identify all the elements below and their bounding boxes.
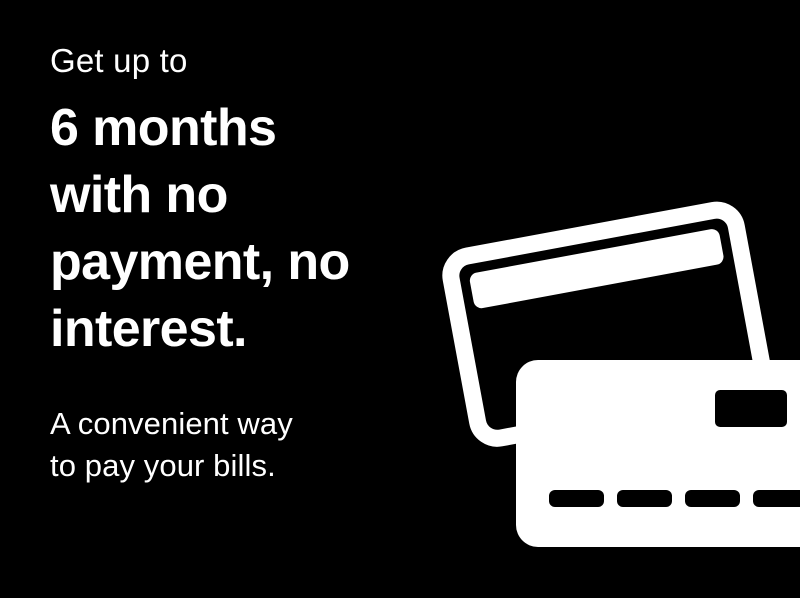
card-chip-icon — [715, 390, 787, 427]
eyebrow-text: Get up to — [50, 44, 450, 79]
subtext-line-1: A convenient way — [50, 403, 450, 445]
card-number-dash — [753, 490, 800, 507]
front-card-icon — [516, 360, 800, 547]
card-number-dash — [685, 490, 740, 507]
headline: 6 months with no payment, no interest. — [50, 95, 450, 363]
headline-line-1: 6 months — [50, 95, 450, 162]
headline-line-3: payment, no — [50, 229, 450, 296]
subtext-line-2: to pay your bills. — [50, 445, 450, 487]
headline-line-4: interest. — [50, 296, 450, 363]
headline-line-2: with no — [50, 162, 450, 229]
credit-cards-illustration — [440, 195, 800, 565]
promo-text-block: Get up to 6 months with no payment, no i… — [50, 44, 450, 487]
subtext: A convenient way to pay your bills. — [50, 403, 450, 487]
card-number-dash — [617, 490, 672, 507]
card-number-dash — [549, 490, 604, 507]
front-card-body — [516, 360, 800, 547]
promo-banner: Get up to 6 months with no payment, no i… — [0, 0, 800, 598]
